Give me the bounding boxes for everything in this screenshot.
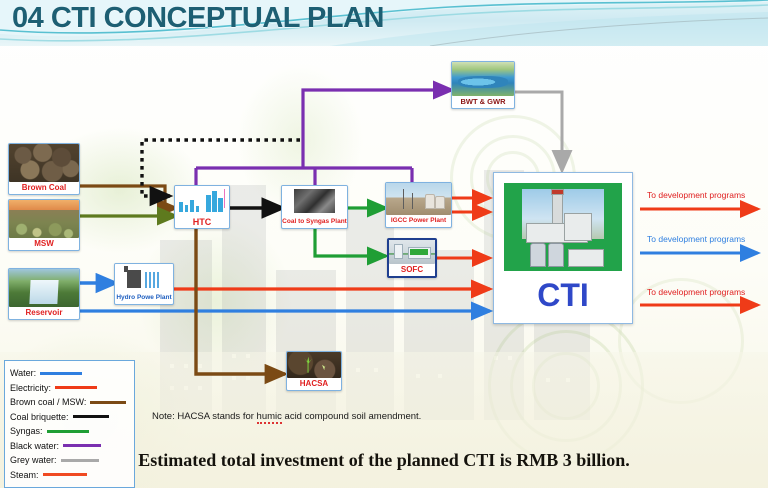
legend-label-electricity: Electricity: [10,383,51,393]
legend-swatch-syngas [47,430,89,433]
slide-canvas: 04 CTI CONCEPTUAL PLAN [0,0,768,488]
output-label-3: To development programs [647,287,745,297]
legend-label-grey-water: Grey water: [10,455,57,465]
legend-swatch-steam [43,473,87,476]
output-label-1: To development programs [647,190,745,200]
legend-item-black-water: Black water: [10,439,134,454]
legend-swatch-water [40,372,82,375]
note-suffix: acid compound soil amendment. [282,411,421,422]
legend-label-brown-coal-msw: Brown coal / MSW: [10,397,86,407]
legend-box: Water: Electricity: Brown coal / MSW: Co… [4,360,135,488]
legend-item-grey-water: Grey water: [10,453,134,468]
hacsa-note: Note: HACSA stands for humic acid compou… [152,411,421,422]
legend-label-syngas: Syngas: [10,426,43,436]
note-prefix: Note: HACSA stands for [152,411,257,422]
legend-label-steam: Steam: [10,470,39,480]
legend-item-syngas: Syngas: [10,424,134,439]
legend-item-electricity: Electricity: [10,381,134,396]
legend-swatch-brown-coal-msw [90,401,126,404]
output-label-2: To development programs [647,234,745,244]
legend-label-water: Water: [10,368,36,378]
legend-swatch-electricity [55,386,97,389]
legend-label-coal-briquette: Coal briquette: [10,412,69,422]
legend-label-black-water: Black water: [10,441,59,451]
legend-swatch-grey-water [61,459,99,462]
legend-swatch-coal-briquette [73,415,109,418]
legend-item-steam: Steam: [10,468,134,483]
legend-item-brown-coal-msw: Brown coal / MSW: [10,395,134,410]
note-underlined-word: humic [257,411,282,424]
legend-swatch-black-water [63,444,101,447]
legend-item-water: Water: [10,366,134,381]
legend-item-coal-briquette: Coal briquette: [10,410,134,425]
